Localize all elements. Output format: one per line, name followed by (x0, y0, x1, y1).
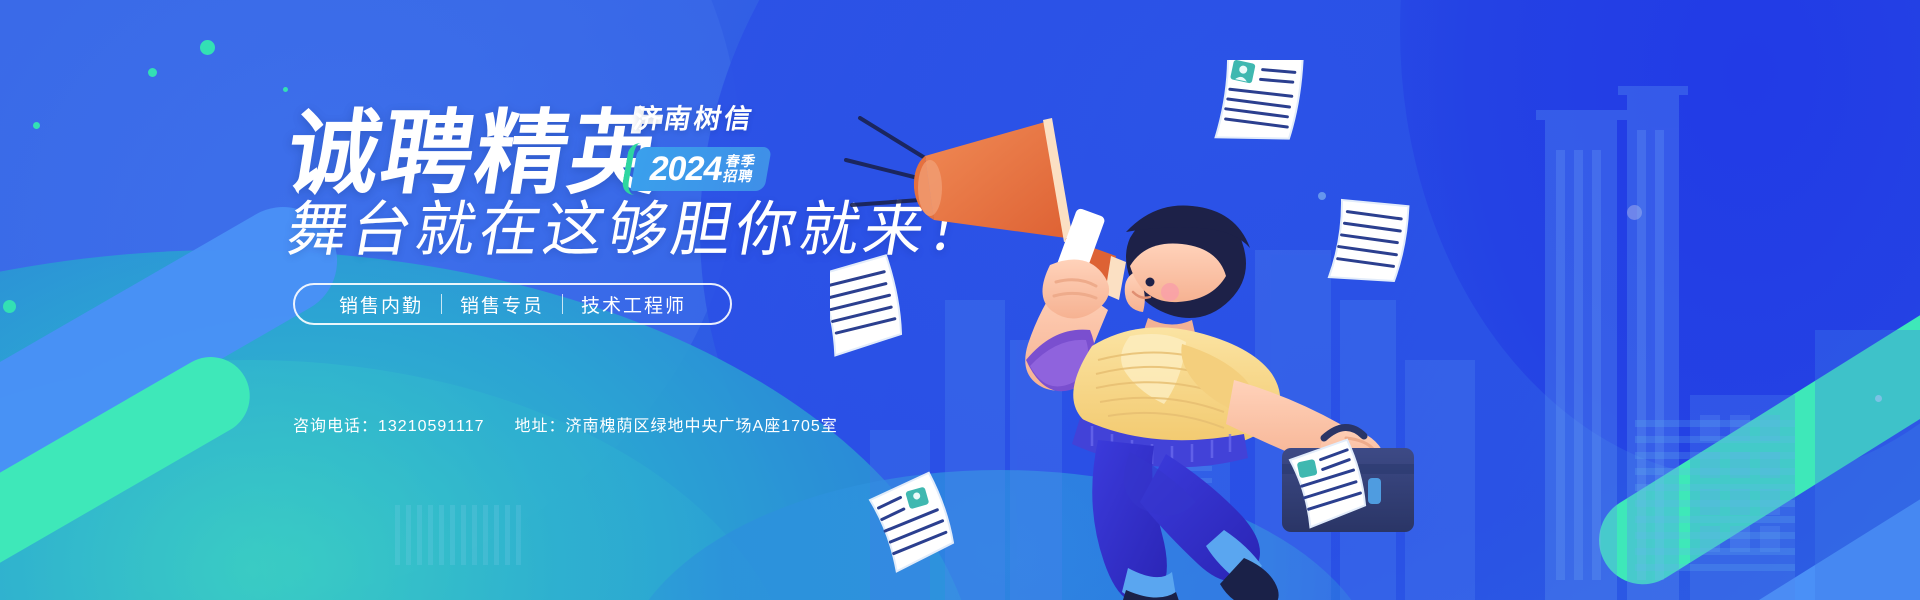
positions-pill[interactable]: 销售内勤 销售专员 技术工程师 (293, 283, 732, 325)
resume-document-icon (1210, 60, 1308, 153)
company-name: 济南树信 (632, 106, 797, 133)
character-head (1125, 206, 1250, 318)
resume-document-icon (867, 471, 957, 573)
badge-season-line2: 招聘 (722, 169, 755, 184)
contact-info: 咨询电话：13210591117 地址：济南槐荫区绿地中央广场A座1705室 (293, 412, 838, 436)
contact-phone: 咨询电话：13210591117 (293, 412, 485, 436)
resume-document-icon (1323, 190, 1414, 293)
page-title: 诚聘精英 (281, 108, 672, 200)
headline-row: 诚聘精英 (288, 108, 664, 200)
badge-block: 济南树信 2024 春季 招聘 (634, 106, 794, 191)
position-item-1[interactable]: 销售专员 (442, 291, 562, 318)
resume-document-icon (830, 255, 904, 357)
recruitment-badge: 2024 春季 招聘 (630, 147, 771, 191)
contact-address: 地址：济南槐荫区绿地中央广场A座1705室 (515, 412, 838, 436)
badge-season-line1: 春季 (725, 154, 758, 169)
sound-lines-icon (846, 118, 925, 205)
position-item-2[interactable]: 技术工程师 (563, 291, 704, 318)
recruitment-banner: 诚聘精英 济南树信 2024 春季 招聘 舞台就在这够胆你就来！ 销售内勤 销售… (0, 0, 1920, 600)
illustration-man-with-megaphone (830, 60, 1450, 600)
badge-season: 春季 招聘 (722, 154, 757, 184)
position-item-0[interactable]: 销售内勤 (321, 291, 441, 318)
badge-year: 2024 (647, 152, 725, 186)
